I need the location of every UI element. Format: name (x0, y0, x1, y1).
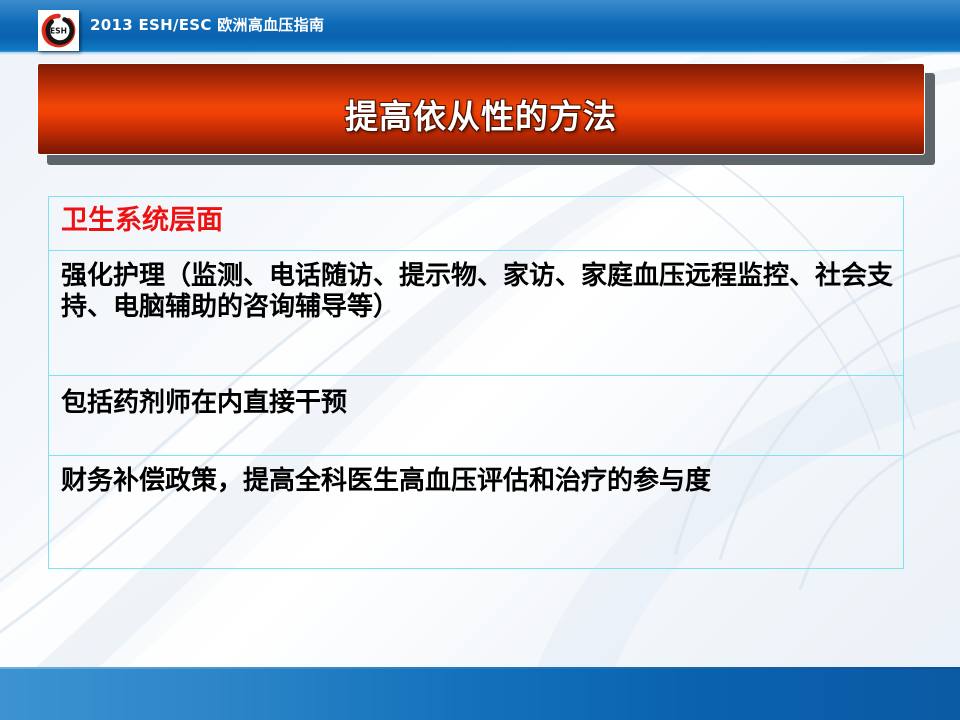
table-row: 卫生系统层面 (49, 197, 903, 251)
header-title: 2013 ESH/ESC 欧洲高血压指南 (90, 14, 324, 35)
slide-root: ESH 2013 ESH/ESC 欧洲高血压指南 提高依从性的方法 卫生系统层面… (0, 0, 960, 720)
table-section-heading: 卫生系统层面 (61, 205, 895, 237)
table-cell-text: 财务补偿政策，提高全科医生高血压评估和治疗的参与度 (61, 466, 895, 497)
content-table: 卫生系统层面 强化护理（监测、电话随访、提示物、家访、家庭血压远程监控、社会支持… (48, 196, 904, 569)
slide-footer-bar (0, 667, 960, 720)
footer-top-line (0, 667, 960, 669)
table-cell-text: 包括药剂师在内直接干预 (61, 388, 895, 419)
table-row: 财务补偿政策，提高全科医生高血压评估和治疗的参与度 (49, 456, 903, 568)
esh-logo-icon: ESH (38, 10, 79, 51)
table-row: 强化护理（监测、电话随访、提示物、家访、家庭血压远程监控、社会支持、电脑辅助的咨… (49, 251, 903, 376)
esh-logo-label: ESH (50, 27, 67, 36)
table-row: 包括药剂师在内直接干预 (49, 376, 903, 456)
slide-title: 提高依从性的方法 (38, 90, 924, 138)
title-banner: 提高依从性的方法 (37, 63, 925, 155)
header-underline (0, 52, 960, 55)
esh-logo: ESH (38, 10, 79, 51)
table-cell-text: 强化护理（监测、电话随访、提示物、家访、家庭血压远程监控、社会支持、电脑辅助的咨… (61, 261, 895, 322)
